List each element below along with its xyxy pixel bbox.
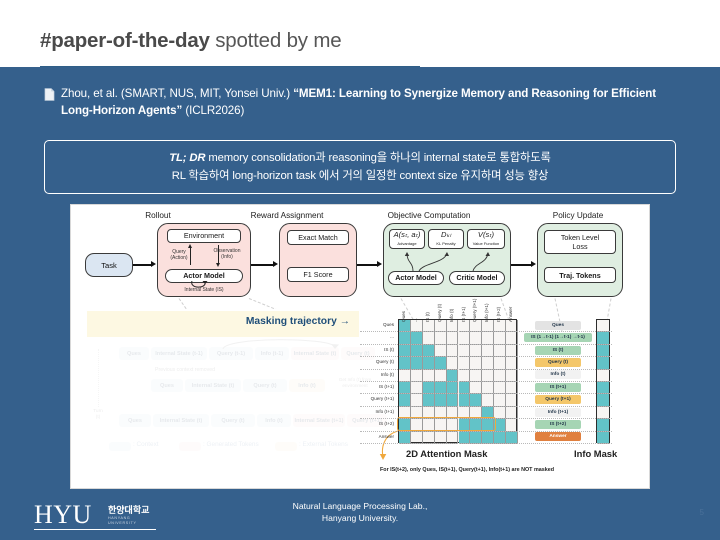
advantage-symbol: A(sₜ, aₜ) — [394, 230, 421, 239]
tok-r1-c1: Internal State (t-1) — [151, 347, 207, 360]
mask-chip-5: IS (t+1) — [535, 383, 581, 392]
citation-text: Zhou, et al. (SMART, NUS, MIT, Yonsei Un… — [61, 86, 674, 119]
traj-tokens-box: Traj. Tokens — [544, 267, 616, 283]
legend-label-external: : External Tokens — [299, 441, 348, 448]
value-function-box: V(sₜ) Value Function — [467, 229, 505, 249]
mask-col-label-7: Info (t+1) — [484, 303, 489, 322]
arrow-reward-to-objective — [357, 264, 377, 266]
self-loop-icon — [189, 281, 211, 291]
row-guide-1 — [360, 344, 612, 345]
mask-col-label-4: Info (t) — [449, 309, 454, 322]
legend-swatch-context — [109, 442, 131, 451]
mask-col-label-8: IS (t+2) — [496, 307, 501, 322]
tldr-line2: RL 학습하여 long-horizon task 에서 거의 일정한 cont… — [172, 170, 549, 182]
exact-match-box: Exact Match — [287, 230, 349, 245]
tok-r1-c0: Ques — [119, 347, 149, 360]
observation-info-label: Observation(Info) — [207, 248, 247, 260]
highlight-box — [397, 417, 497, 431]
mask-row-label-0: Ques — [358, 319, 394, 331]
advantage-box: A(sₜ, aₜ) Advantage — [389, 229, 425, 249]
kl-penalty-box: Dₖₗ KL Penalty — [428, 229, 464, 249]
tok-r2-c2: Query (t) — [243, 379, 287, 392]
value-symbol: V(sₜ) — [478, 230, 494, 239]
page-title: #paper-of-the-day spotted by me — [40, 29, 341, 53]
attention-mask-note: For IS(t+2), only Ques, IS(t+1), Query(t… — [380, 467, 554, 473]
tok-r3-c1: Internal State (t) — [153, 414, 209, 427]
figure-card: Rollout Reward Assignment Objective Comp… — [70, 204, 650, 489]
citation-authors: Zhou, et al. (SMART, NUS, MIT, Yonsei Un… — [61, 87, 293, 100]
mask-row-label-1: ... — [358, 331, 394, 343]
stage-title-objective: Objective Computation — [353, 211, 505, 220]
mask-col-label-0: Ques — [401, 311, 406, 322]
mask-chip-8: IS (t+2) — [535, 420, 581, 429]
stage-title-rollout: Rollout — [93, 211, 223, 220]
value-label: Value Function — [473, 239, 499, 248]
info-mask-caption: Info Mask — [574, 448, 617, 459]
tldr-text: TL; DR memory consolidation과 reasoning을 … — [169, 149, 550, 185]
footer-line-1: Natural Language Processing Lab., — [293, 501, 428, 511]
task-box: Task — [85, 253, 133, 277]
mask-chip-7: Info (t+1) — [535, 408, 581, 417]
footer-text: Natural Language Processing Lab., Hanyan… — [0, 500, 720, 524]
arrow-head-1 — [151, 261, 156, 267]
token-level-loss-box: Token Level Loss — [544, 230, 616, 254]
masking-trajectory-title: Masking trajectory → — [246, 316, 350, 327]
turn-axis — [98, 349, 99, 407]
mask-row-label-4: Info (t) — [358, 369, 394, 381]
arrow-head-2 — [273, 261, 278, 267]
token-loss-line2: Loss — [572, 242, 587, 251]
slide-number: 5 — [700, 508, 704, 517]
tok-r2-c1: Internal State (t) — [185, 379, 241, 392]
mask-row-label-3: Query (t) — [358, 356, 394, 368]
query-arrow-head — [188, 244, 192, 248]
mask-col-label-6: Query (t+1) — [472, 299, 477, 322]
consolidate-arc-icon — [221, 335, 343, 351]
legend-label-generated: : Generated Tokens — [203, 441, 259, 448]
title-rest: spotted by me — [210, 29, 342, 52]
tldr-line1: memory consolidation과 reasoning을 하나의 int… — [205, 152, 550, 164]
logo-underline — [34, 529, 156, 530]
mask-chip-6: Query (t+1) — [535, 395, 581, 404]
citation-venue: (ICLR2026) — [182, 104, 244, 117]
mask-col-label-5: IS (t+1) — [461, 307, 466, 322]
mask-chip-1: IS (1→t-1) (1→t-1) →t-1) — [524, 333, 592, 342]
stage-title-reward: Reward Assignment — [223, 211, 351, 220]
title-hashtag: #paper-of-the-day — [40, 29, 210, 52]
row-guide-6 — [360, 406, 612, 407]
arrow-head-4 — [531, 261, 536, 267]
tldr-box: TL; DR memory consolidation과 reasoning을 … — [44, 140, 676, 194]
mask-col-label-2: IS (t) — [425, 312, 430, 322]
masking-trajectory-panel: Masking trajectory → Ques Internal State… — [75, 309, 360, 487]
tok-r3-c0: Ques — [119, 414, 151, 427]
arrow-objective-to-policy — [511, 264, 531, 266]
mask-row-label-8: IS (t+2) — [358, 418, 394, 430]
slide-header: #paper-of-the-day spotted by me — [0, 0, 720, 67]
turn-label: Turn(t) — [87, 409, 109, 421]
mask-row-label-6: Query (t+1) — [358, 393, 394, 405]
mask-row-label-2: IS (t) — [358, 344, 394, 356]
tldr-tag: TL; DR — [169, 152, 205, 164]
observation-arrow-head — [216, 263, 220, 267]
environment-box: Environment — [167, 229, 241, 243]
document-icon — [44, 88, 55, 106]
arrow-head-3 — [377, 261, 382, 267]
arrow-rollout-to-reward — [251, 264, 273, 266]
tok-r3-c2: Query (t) — [211, 414, 255, 427]
mask-chip-4: Info (t) — [535, 370, 581, 379]
arrow-task-to-rollout — [133, 264, 151, 266]
legend-swatch-generated — [179, 442, 201, 451]
objective-critic-model-box: Critic Model — [449, 271, 505, 285]
objective-connectors-icon — [387, 249, 509, 273]
objective-actor-model-box: Actor Model — [388, 271, 444, 285]
tok-r3-c4: Internal State (t+1) — [293, 414, 345, 427]
row-guide-4 — [360, 381, 612, 382]
mask-row-label-7: Info (t+1) — [358, 406, 394, 418]
mask-col-label-1: ... — [413, 318, 418, 322]
row-guide-9 — [360, 443, 612, 444]
note-previous-context-removed: Previous context removed — [155, 367, 215, 373]
legend-swatch-external — [275, 442, 297, 451]
tok-r3-c3: Info (t) — [257, 414, 291, 427]
legend-label-context: : Context — [133, 441, 159, 448]
slide-root: #paper-of-the-day spotted by me Zhou, et… — [0, 0, 720, 540]
attention-mask-panel: 2D Attention Mask For IS(t+2), only Ques… — [360, 301, 648, 489]
kl-label: KL Penalty — [436, 239, 455, 248]
mask-chip-9: Answer — [535, 432, 581, 441]
attention-mask-caption: 2D Attention Mask — [406, 448, 487, 459]
tok-r2-c0: Ques — [151, 379, 183, 392]
mask-chip-0: Ques — [535, 321, 581, 330]
mask-col-label-3: Query (t) — [437, 304, 442, 322]
tok-r2-c3: Info (t) — [289, 379, 325, 392]
query-action-label: Query(Action) — [165, 249, 193, 261]
mask-row-label-5: IS (t+1) — [358, 381, 394, 393]
stage-title-policy: Policy Update — [519, 211, 637, 220]
footer-line-2: Hanyang University. — [322, 513, 398, 523]
mask-chip-2: IS (t) — [535, 346, 581, 355]
mask-col-label-9: Answer — [508, 307, 513, 322]
f1-score-box: F1 Score — [287, 267, 349, 282]
token-loss-line1: Token Level — [561, 233, 599, 242]
advantage-label: Advantage — [397, 239, 416, 248]
mask-chip-3: Query (t) — [535, 358, 581, 367]
kl-symbol: Dₖₗ — [441, 230, 451, 239]
citation-row: Zhou, et al. (SMART, NUS, MIT, Yonsei Un… — [44, 86, 674, 119]
mask-row-label-9: Answer — [358, 431, 394, 443]
